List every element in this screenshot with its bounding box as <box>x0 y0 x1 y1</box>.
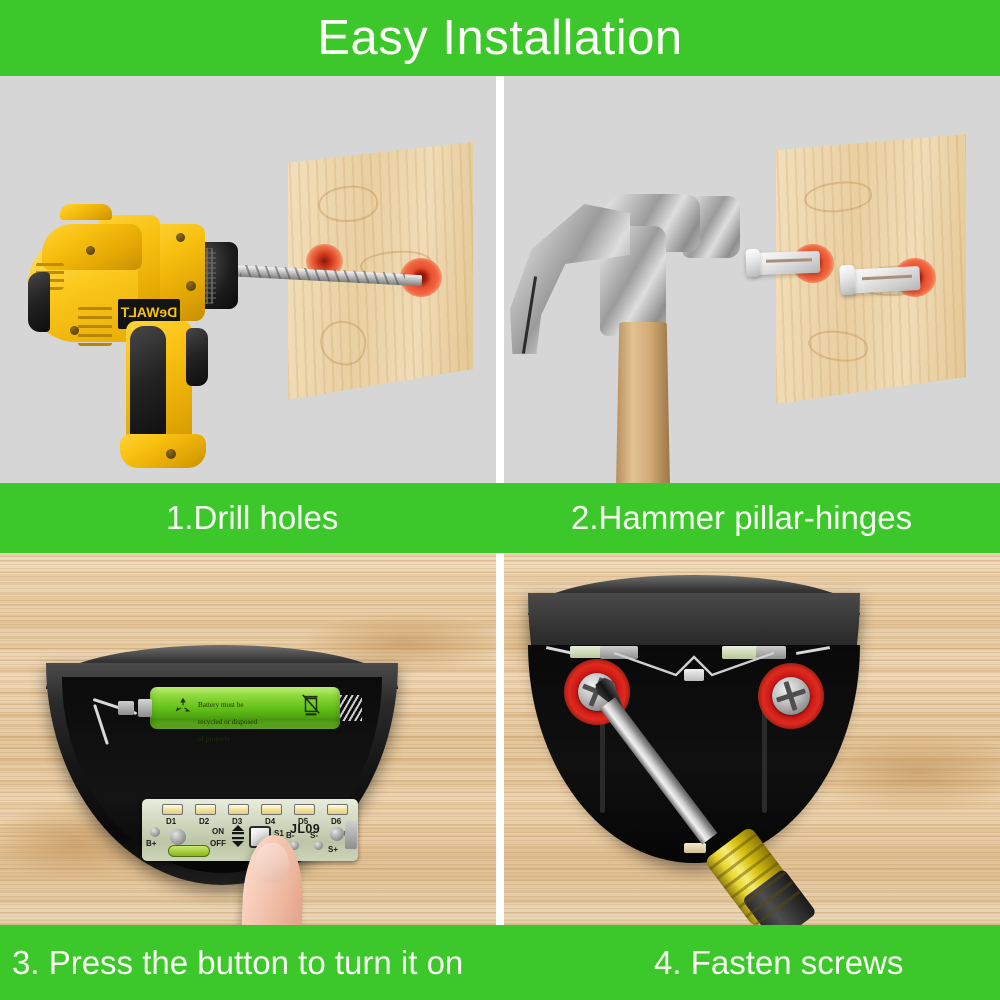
drill-screw <box>86 246 95 255</box>
led-label-d6: D6 <box>331 817 341 826</box>
drill-screw <box>166 449 176 459</box>
switch-down-icon <box>232 837 244 847</box>
caption-banner-top: 1.Drill holes 2.Hammer pillar-hinges <box>0 483 1000 553</box>
drill-hook <box>60 204 112 220</box>
panel-3-press-button: Battery must be recycled or disposed of … <box>0 553 496 925</box>
solder-pad <box>170 829 186 845</box>
led-label-d4: D4 <box>265 817 275 826</box>
wall-anchor-upper-collar <box>746 249 761 277</box>
caption-row-bottom: 3. Press the button to turn it on 4. Fas… <box>0 925 1000 1000</box>
terminal-label-bminus: B- <box>286 831 294 840</box>
led-d2 <box>195 804 216 815</box>
terminal-label-splus: S+ <box>328 845 338 854</box>
terminal-pad-bplus <box>150 827 160 837</box>
caption-step-2: 2.Hammer pillar-hinges <box>571 499 912 537</box>
terminal-label-bplus: B+ <box>146 839 156 848</box>
bracket-tab-bottom <box>684 843 706 853</box>
terminal-label-sminus: S- <box>310 831 318 840</box>
caption-banner-bottom: 3. Press the button to turn it on 4. Fas… <box>0 925 1000 1000</box>
fixture-contact-bracket <box>118 701 134 715</box>
wall-anchor-lower-collar <box>839 265 856 296</box>
led-d6 <box>327 804 348 815</box>
drill-brand-text: DeWALT <box>118 304 180 320</box>
battery-label-line2: recycled or disposed <box>198 718 257 726</box>
drill-screw <box>70 326 79 335</box>
crossed-out-bin-icon <box>300 693 322 717</box>
drill-trigger <box>28 272 50 332</box>
battery-label-line3: of properly <box>198 735 230 743</box>
hammer-handle <box>616 322 670 483</box>
caption-step-3: 3. Press the button to turn it on <box>12 944 463 982</box>
drill-screw <box>186 281 196 291</box>
panel-4-fasten-screws <box>504 553 1000 925</box>
panel-2-hammer <box>504 76 1000 483</box>
led-d3 <box>228 804 249 815</box>
terminal-pad-sminus <box>314 841 323 850</box>
infographic-page: Easy Installation 2 inch DeWALT <box>0 0 1000 1000</box>
led-d4 <box>261 804 282 815</box>
title-banner: Easy Installation <box>0 0 1000 76</box>
drill-vents-side <box>78 306 112 346</box>
led-label-d2: D2 <box>199 817 209 826</box>
caption-step-4: 4. Fasten screws <box>654 944 903 982</box>
connector-block <box>345 821 357 849</box>
page-title: Easy Installation <box>317 14 682 63</box>
caption-step-1: 1.Drill holes <box>166 499 338 537</box>
fingernail <box>255 843 289 883</box>
recycle-icon <box>172 695 194 717</box>
switch-off-label: OFF <box>210 839 226 848</box>
switch-up-icon <box>232 825 244 835</box>
battery-label-line1: Battery must be <box>198 701 244 709</box>
battery-label-text: Battery must be recycled or disposed of … <box>198 692 306 744</box>
led-d1 <box>162 804 183 815</box>
led-label-d1: D1 <box>166 817 176 826</box>
keyhole-slot-right <box>762 703 767 813</box>
panel-divider-bottom <box>496 553 504 925</box>
drill-grip <box>130 326 166 448</box>
panel-1-drill: 2 inch DeWALT <box>0 76 496 483</box>
caption-row-top: 1.Drill holes 2.Hammer pillar-hinges <box>0 483 1000 553</box>
battery-spring-right <box>340 695 362 721</box>
battery-terminal-left <box>138 699 152 717</box>
drill-paddle-switch <box>186 328 208 386</box>
led-d5 <box>294 804 315 815</box>
panel-divider-top <box>496 76 504 483</box>
bracket-tab <box>684 669 704 681</box>
drill-base <box>120 434 206 468</box>
terminal-pad-splus <box>330 827 344 841</box>
switch-on-label: ON <box>212 827 224 836</box>
drill-screw <box>176 233 185 242</box>
inductor-component <box>168 845 210 857</box>
